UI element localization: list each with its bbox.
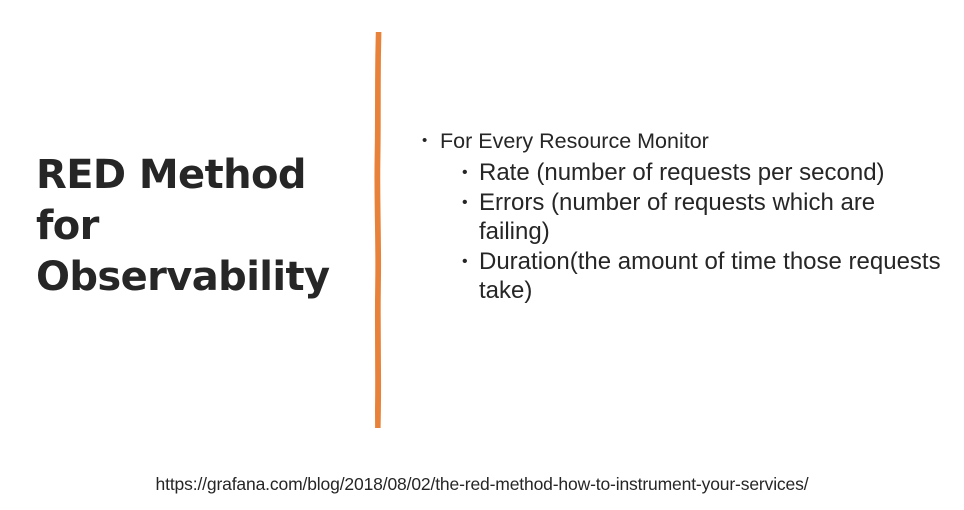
orange-divider-icon: [368, 28, 390, 432]
list-item: • For Every Resource Monitor: [422, 126, 950, 156]
source-url-link[interactable]: https://grafana.com/blog/2018/08/02/the-…: [0, 474, 964, 495]
title-line-1: RED Method: [36, 150, 348, 201]
title-line-3: Observability: [36, 252, 348, 303]
list-item: • Errors (number of requests which are f…: [462, 188, 950, 246]
bullet-marker-icon: •: [462, 158, 479, 187]
list-item-label: Errors (number of requests which are fai…: [479, 188, 950, 246]
list-item: • Rate (number of requests per second): [462, 158, 950, 187]
slide-canvas: RED Method for Observability • For Every…: [0, 0, 964, 510]
bullet-marker-icon: •: [462, 188, 479, 217]
list-item-label: Rate (number of requests per second): [479, 158, 950, 187]
list-item: • Duration(the amount of time those requ…: [462, 247, 950, 305]
page-title: RED Method for Observability: [36, 150, 348, 303]
list-item-label: Duration(the amount of time those reques…: [479, 247, 950, 305]
title-line-2: for: [36, 201, 348, 252]
list-item-label: For Every Resource Monitor: [440, 126, 950, 156]
bullet-list: • For Every Resource Monitor • Rate (num…: [422, 126, 950, 306]
bullet-marker-icon: •: [422, 126, 440, 156]
bullet-marker-icon: •: [462, 247, 479, 276]
